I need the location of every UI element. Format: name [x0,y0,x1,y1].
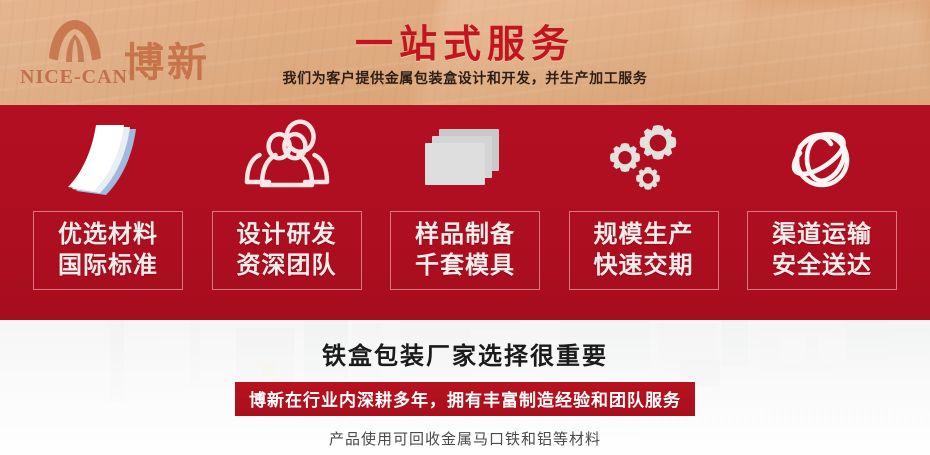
banner-footer: 铁盒包装厂家选择很重要 博新在行业内深耕多年，拥有丰富制造经验和团队服务 产品使… [0,320,930,455]
feature-icon-wrapper [596,113,692,209]
feature-line2: 快速交期 [579,250,709,281]
feature-label-samples-molds: 样品制备 千套模具 [390,211,540,290]
banner-header: NICE-CAN® 博新 一站式服务 我们为客户提供金属包装盒设计和开发，并生产… [0,0,930,105]
feature-line1: 样品制备 [415,220,515,248]
footer-highlight-banner: 博新在行业内深耕多年，拥有丰富制造经验和团队服务 [235,382,695,416]
feature-label-design-team: 设计研发 资深团队 [212,211,362,290]
feature-icon-wrapper [774,113,870,209]
feature-icon-wrapper [60,113,156,209]
feature-label-materials: 优选材料 国际标准 [33,211,183,290]
globe-network-icon [774,119,870,203]
feature-band: 优选材料 国际标准 设计研发 资深团队 [0,105,930,320]
gears-icon [596,119,692,203]
feature-line2: 安全送达 [757,250,887,281]
feature-item-mass-production[interactable]: 规模生产 快速交期 [558,105,730,320]
feature-item-samples-molds[interactable]: 样品制备 千套模具 [379,105,551,320]
feature-icon-wrapper [417,113,513,209]
feature-label-mass-production: 规模生产 快速交期 [569,211,719,290]
footer-note: 产品使用可回收金属马口铁和铝等材料 [329,428,601,449]
feature-item-design-team[interactable]: 设计研发 资深团队 [201,105,373,320]
feature-line1: 优选材料 [58,220,158,248]
team-people-icon [239,119,335,203]
page-subtitle: 我们为客户提供金属包装盒设计和开发，并生产加工服务 [0,68,930,88]
page-title: 一站式服务 [0,13,930,68]
feature-line2: 国际标准 [43,250,173,281]
feature-item-logistics[interactable]: 渠道运输 安全送达 [736,105,908,320]
feature-line1: 渠道运输 [772,220,872,248]
feature-line2: 千套模具 [400,250,530,281]
stacked-plates-icon [417,119,513,203]
feature-line1: 规模生产 [594,220,694,248]
feature-line2: 资深团队 [222,250,352,281]
promo-banner: NICE-CAN® 博新 一站式服务 我们为客户提供金属包装盒设计和开发，并生产… [0,0,930,455]
footer-heading: 铁盒包装厂家选择很重要 [322,336,608,371]
feature-label-logistics: 渠道运输 安全送达 [747,211,897,290]
feature-line1: 设计研发 [237,220,337,248]
feature-icon-wrapper [239,113,335,209]
stacked-sheets-icon [60,119,156,203]
feature-item-materials[interactable]: 优选材料 国际标准 [22,105,194,320]
